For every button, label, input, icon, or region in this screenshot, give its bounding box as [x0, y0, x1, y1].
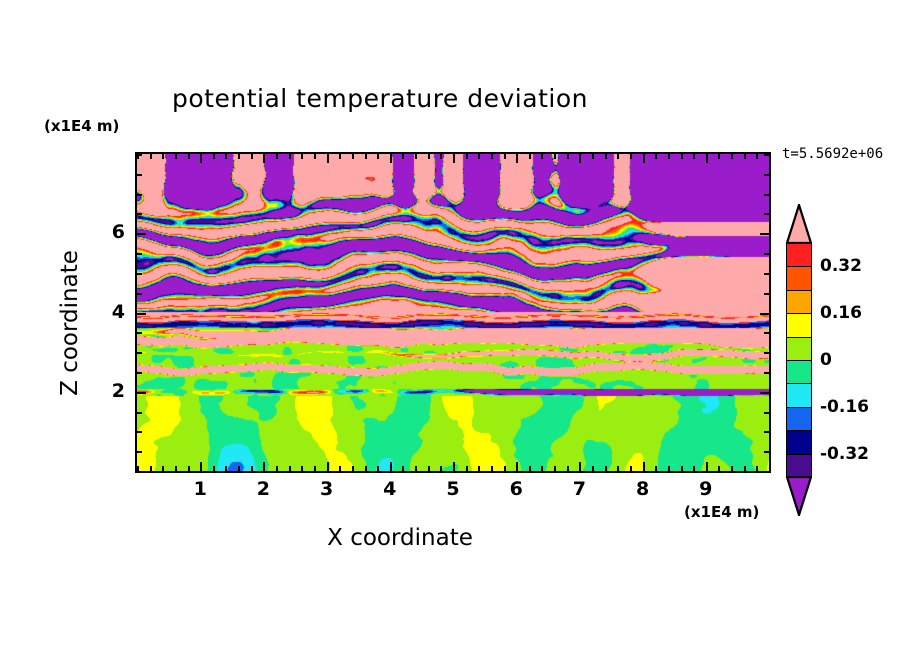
x-minor-tick	[744, 466, 746, 471]
x-minor-tick	[150, 466, 152, 471]
y-minor-tick	[137, 471, 142, 473]
x-minor-tick-top	[554, 154, 556, 159]
y-minor-tick-right	[764, 451, 769, 453]
y-minor-tick-right	[764, 412, 769, 414]
colorbar-tick-label: -0.16	[820, 397, 869, 417]
x-tick-label: 1	[180, 478, 220, 500]
x-minor-tick-top	[225, 154, 227, 159]
x-tick-label: 3	[307, 478, 347, 500]
y-major-tick	[137, 392, 146, 394]
x-major-tick	[327, 462, 329, 471]
x-major-tick-top	[706, 154, 708, 163]
x-minor-tick-top	[276, 154, 278, 159]
y-minor-tick	[137, 352, 142, 354]
x-minor-tick-top	[314, 154, 316, 159]
x-minor-tick	[440, 466, 442, 471]
x-minor-tick	[605, 466, 607, 471]
x-minor-tick	[314, 466, 316, 471]
y-minor-tick-right	[764, 293, 769, 295]
x-minor-tick-top	[541, 154, 543, 159]
contour-plot-area	[135, 152, 771, 473]
y-minor-tick-right	[764, 174, 769, 176]
x-axis-units: (x1E4 m)	[684, 503, 759, 521]
x-tick-label: 5	[433, 478, 473, 500]
y-minor-tick	[137, 253, 142, 255]
contour-field-canvas	[137, 154, 769, 471]
x-minor-tick-top	[756, 154, 758, 159]
x-minor-tick	[339, 466, 341, 471]
x-minor-tick-top	[567, 154, 569, 159]
y-minor-tick-right	[764, 471, 769, 473]
x-minor-tick-top	[251, 154, 253, 159]
x-minor-tick-top	[238, 154, 240, 159]
y-major-tick-right	[760, 313, 769, 315]
y-minor-tick	[137, 293, 142, 295]
x-minor-tick	[188, 466, 190, 471]
x-minor-tick-top	[681, 154, 683, 159]
x-minor-tick-top	[415, 154, 417, 159]
colorbar-tick-label: 0	[820, 350, 832, 370]
x-minor-tick	[478, 466, 480, 471]
y-tick-label: 2	[95, 380, 125, 402]
colorbar-band	[786, 360, 812, 385]
y-minor-tick	[137, 332, 142, 334]
y-minor-tick-right	[764, 213, 769, 215]
x-minor-tick-top	[377, 154, 379, 159]
y-minor-tick-right	[764, 154, 769, 156]
x-minor-tick	[567, 466, 569, 471]
x-minor-tick	[402, 466, 404, 471]
x-minor-tick	[731, 466, 733, 471]
x-major-tick	[516, 462, 518, 471]
x-minor-tick-top	[718, 154, 720, 159]
x-minor-tick	[251, 466, 253, 471]
x-tick-label: 2	[243, 478, 283, 500]
x-major-tick-top	[263, 154, 265, 163]
x-tick-label: 7	[559, 478, 599, 500]
y-minor-tick	[137, 194, 142, 196]
x-minor-tick-top	[162, 154, 164, 159]
x-minor-tick	[365, 466, 367, 471]
x-minor-tick-top	[402, 154, 404, 159]
x-major-tick	[579, 462, 581, 471]
x-minor-tick-top	[617, 154, 619, 159]
x-minor-tick	[352, 466, 354, 471]
y-major-tick	[137, 313, 146, 315]
x-minor-tick	[718, 466, 720, 471]
x-minor-tick	[491, 466, 493, 471]
x-major-tick	[643, 462, 645, 471]
y-minor-tick	[137, 412, 142, 414]
x-minor-tick-top	[668, 154, 670, 159]
x-minor-tick-top	[352, 154, 354, 159]
x-minor-tick-top	[478, 154, 480, 159]
x-minor-tick	[466, 466, 468, 471]
colorbar-over-arrow	[786, 204, 812, 244]
x-minor-tick-top	[365, 154, 367, 159]
colorbar-band	[786, 337, 812, 362]
colorbar-band	[786, 407, 812, 432]
x-minor-tick-top	[188, 154, 190, 159]
y-tick-label: 6	[95, 221, 125, 243]
x-minor-tick	[554, 466, 556, 471]
x-minor-tick-top	[504, 154, 506, 159]
x-minor-tick-top	[466, 154, 468, 159]
y-tick-label: 4	[95, 301, 125, 323]
x-minor-tick	[175, 466, 177, 471]
x-minor-tick-top	[491, 154, 493, 159]
y-minor-tick-right	[764, 431, 769, 433]
y-axis-title: Z coordinate	[57, 223, 83, 423]
x-minor-tick	[769, 466, 771, 471]
x-minor-tick-top	[289, 154, 291, 159]
colorbar-band	[786, 454, 812, 479]
x-minor-tick	[529, 466, 531, 471]
x-major-tick	[263, 462, 265, 471]
y-major-tick-right	[760, 392, 769, 394]
y-minor-tick-right	[764, 194, 769, 196]
y-minor-tick-right	[764, 352, 769, 354]
x-major-tick-top	[327, 154, 329, 163]
x-tick-label: 4	[370, 478, 410, 500]
y-minor-tick	[137, 174, 142, 176]
x-minor-tick-top	[769, 154, 771, 159]
x-minor-tick	[377, 466, 379, 471]
x-minor-tick	[693, 466, 695, 471]
y-minor-tick-right	[764, 332, 769, 334]
x-minor-tick	[162, 466, 164, 471]
y-axis-units: (x1E4 m)	[44, 117, 119, 135]
y-minor-tick	[137, 273, 142, 275]
x-major-tick-top	[516, 154, 518, 163]
y-minor-tick	[137, 213, 142, 215]
colorbar-band	[786, 430, 812, 455]
x-major-tick	[706, 462, 708, 471]
x-major-tick	[453, 462, 455, 471]
x-minor-tick	[756, 466, 758, 471]
x-minor-tick-top	[428, 154, 430, 159]
x-tick-label: 9	[686, 478, 726, 500]
y-minor-tick	[137, 431, 142, 433]
x-minor-tick	[225, 466, 227, 471]
x-minor-tick	[238, 466, 240, 471]
x-minor-tick-top	[630, 154, 632, 159]
x-major-tick-top	[390, 154, 392, 163]
y-minor-tick-right	[764, 372, 769, 374]
x-minor-tick-top	[150, 154, 152, 159]
colorbar-tick-label: 0.16	[820, 303, 862, 323]
y-major-tick	[137, 233, 146, 235]
x-minor-tick-top	[529, 154, 531, 159]
x-minor-tick	[415, 466, 417, 471]
x-minor-tick	[541, 466, 543, 471]
x-minor-tick-top	[301, 154, 303, 159]
x-minor-tick-top	[605, 154, 607, 159]
colorbar-band	[786, 290, 812, 315]
colorbar-under-arrow	[786, 476, 812, 516]
y-minor-tick	[137, 372, 142, 374]
colorbar-band	[786, 313, 812, 338]
x-minor-tick	[301, 466, 303, 471]
x-minor-tick-top	[339, 154, 341, 159]
y-minor-tick-right	[764, 253, 769, 255]
x-minor-tick	[655, 466, 657, 471]
timestamp-annotation: t=5.5692e+06	[782, 146, 883, 162]
x-minor-tick-top	[440, 154, 442, 159]
x-minor-tick	[428, 466, 430, 471]
colorbar-tick-label: -0.32	[820, 444, 869, 464]
x-minor-tick-top	[693, 154, 695, 159]
x-minor-tick	[289, 466, 291, 471]
y-major-tick-right	[760, 233, 769, 235]
page-title: potential temperature deviation	[0, 84, 760, 113]
x-minor-tick	[681, 466, 683, 471]
x-major-tick-top	[579, 154, 581, 163]
x-minor-tick-top	[744, 154, 746, 159]
x-minor-tick-top	[592, 154, 594, 159]
colorbar-band	[786, 243, 812, 268]
x-tick-label: 6	[496, 478, 536, 500]
x-minor-tick-top	[175, 154, 177, 159]
x-major-tick	[390, 462, 392, 471]
colorbar-tick-label: 0.32	[820, 256, 862, 276]
x-minor-tick	[617, 466, 619, 471]
x-minor-tick-top	[731, 154, 733, 159]
x-major-tick-top	[643, 154, 645, 163]
x-tick-label: 8	[623, 478, 663, 500]
x-axis-title: X coordinate	[270, 525, 530, 551]
x-minor-tick	[276, 466, 278, 471]
x-major-tick	[200, 462, 202, 471]
x-minor-tick-top	[655, 154, 657, 159]
x-minor-tick-top	[213, 154, 215, 159]
y-minor-tick	[137, 154, 142, 156]
x-minor-tick	[213, 466, 215, 471]
x-minor-tick	[592, 466, 594, 471]
x-major-tick-top	[200, 154, 202, 163]
colorbar-band	[786, 266, 812, 291]
x-major-tick-top	[453, 154, 455, 163]
y-minor-tick-right	[764, 273, 769, 275]
x-minor-tick	[504, 466, 506, 471]
colorbar-band	[786, 383, 812, 408]
y-minor-tick	[137, 451, 142, 453]
colorbar: 0.320.160-0.16-0.32	[786, 243, 812, 477]
x-minor-tick	[668, 466, 670, 471]
x-minor-tick	[630, 466, 632, 471]
